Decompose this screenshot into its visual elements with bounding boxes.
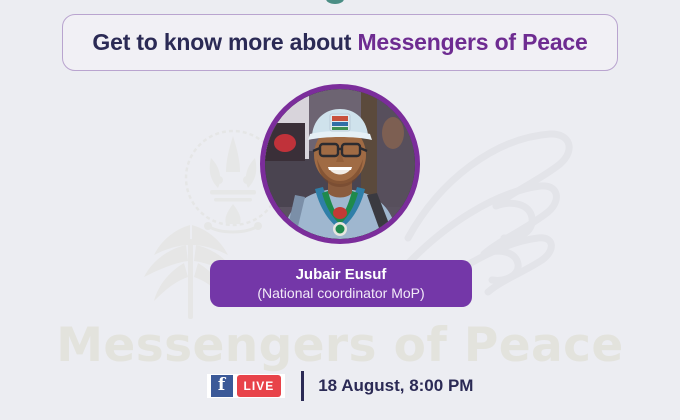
page-title-accent: Messengers of Peace <box>357 29 587 55</box>
page-title-plain: Get to know more about <box>92 29 357 55</box>
facebook-icon: f <box>211 375 233 397</box>
live-info-bar: f LIVE 18 August, 8:00 PM <box>0 368 680 404</box>
speaker-role: (National coordinator MoP) <box>257 284 424 303</box>
top-edge-fragment <box>326 0 344 4</box>
page-title: Get to know more about Messengers of Pea… <box>92 29 587 56</box>
speaker-name: Jubair Eusuf <box>296 266 387 284</box>
live-label-badge: LIVE <box>237 375 282 397</box>
vertical-divider <box>301 371 304 401</box>
background-watermark-title: Messengers of Peace <box>0 318 680 373</box>
speaker-photo-illustration <box>265 89 415 239</box>
speaker-avatar <box>260 84 420 244</box>
header-title-box: Get to know more about Messengers of Pea… <box>62 14 618 71</box>
event-promo-poster: Messengers of Peace Get to know more abo… <box>0 0 680 420</box>
event-datetime: 18 August, 8:00 PM <box>318 376 473 396</box>
facebook-live-badge[interactable]: f LIVE <box>207 374 286 398</box>
speaker-name-badge: Jubair Eusuf (National coordinator MoP) <box>210 260 472 307</box>
